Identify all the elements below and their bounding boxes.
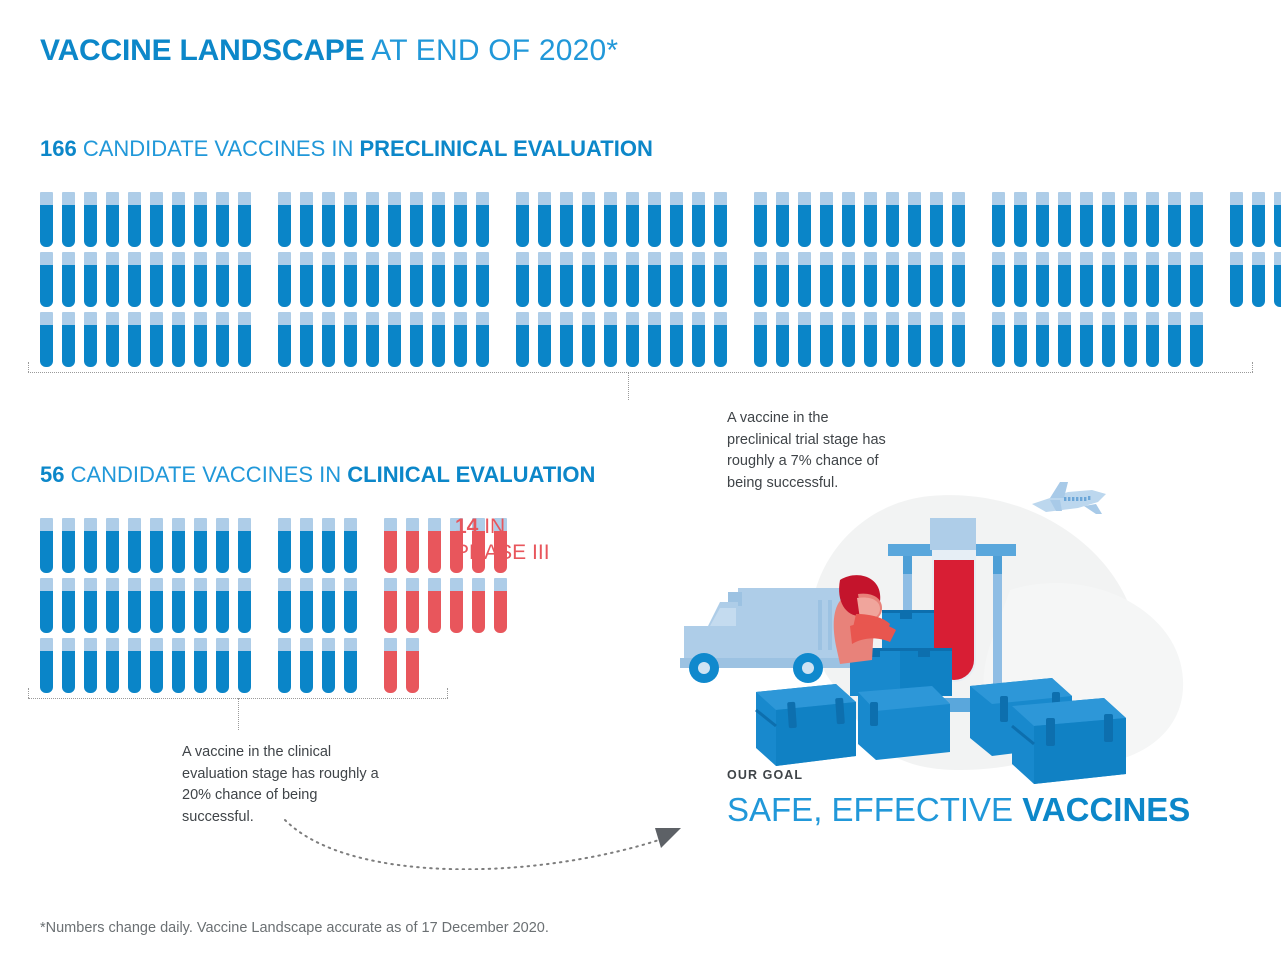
clinical-heading: 56 CANDIDATE VACCINES IN CLINICAL EVALUA… (40, 462, 595, 488)
vial-group (754, 312, 974, 367)
vial-blue (1102, 312, 1115, 367)
vial-blue (388, 312, 401, 367)
vial-body (238, 591, 251, 633)
flow-arrow (280, 810, 700, 870)
preclinical-count: 166 (40, 136, 77, 161)
vial-body (604, 325, 617, 367)
vial-body (516, 325, 529, 367)
vial-blue (1146, 192, 1159, 247)
vial-body (604, 265, 617, 307)
vial-blue (1014, 192, 1027, 247)
vial-blue (150, 518, 163, 573)
vial-body (322, 591, 335, 633)
vial-blue (278, 518, 291, 573)
vial-blue (62, 518, 75, 573)
vial-body (410, 265, 423, 307)
vial-blue (754, 312, 767, 367)
vial-body (648, 265, 661, 307)
vial-body (494, 591, 507, 633)
vial-blue (476, 252, 489, 307)
vial-blue (238, 518, 251, 573)
vial-body (1252, 205, 1265, 247)
vial-blue (172, 252, 185, 307)
vial-body (820, 205, 833, 247)
vial-body (930, 205, 943, 247)
vial-body (84, 265, 97, 307)
vial-blue (1274, 252, 1281, 307)
clinical-count: 56 (40, 462, 64, 487)
vial-blue (754, 192, 767, 247)
vial-body (1014, 325, 1027, 367)
vial-blue (538, 252, 551, 307)
vial-body (150, 265, 163, 307)
vial-body (714, 205, 727, 247)
vial-blue (410, 252, 423, 307)
vial-body (84, 205, 97, 247)
vial-body (560, 265, 573, 307)
vial-blue (344, 638, 357, 693)
vial-body (692, 325, 705, 367)
vial-red (406, 638, 419, 693)
vial-blue (842, 192, 855, 247)
vial-blue (278, 252, 291, 307)
vial-blue (476, 192, 489, 247)
vial-blue (172, 518, 185, 573)
vial-body (406, 651, 419, 693)
vial-body (322, 651, 335, 693)
vial-body (1146, 205, 1159, 247)
vial-blue (842, 312, 855, 367)
vial-group (40, 192, 260, 247)
vial-blue (1190, 252, 1203, 307)
vial-body (1036, 265, 1049, 307)
vial-blue (454, 192, 467, 247)
vial-body (538, 205, 551, 247)
vial-body (216, 591, 229, 633)
vial-blue (344, 312, 357, 367)
preclinical-heading: 166 CANDIDATE VACCINES IN PRECLINICAL EV… (40, 136, 653, 162)
vial-blue (1124, 192, 1137, 247)
vial-body (714, 265, 727, 307)
vial-body (1274, 205, 1281, 247)
vial-body (40, 531, 53, 573)
vial-blue (216, 312, 229, 367)
vial-blue (322, 578, 335, 633)
vial-blue (300, 578, 313, 633)
vial-blue (62, 252, 75, 307)
vial-body (300, 531, 313, 573)
vial-blue (864, 252, 877, 307)
vial-body (626, 325, 639, 367)
vial-blue (1014, 312, 1027, 367)
vial-blue (1168, 312, 1181, 367)
vial-body (40, 325, 53, 367)
vial-body (172, 265, 185, 307)
vial-body (670, 205, 683, 247)
vial-blue (84, 578, 97, 633)
vial-body (428, 531, 441, 573)
vial-blue (992, 312, 1005, 367)
vial-blue (432, 312, 445, 367)
vial-blue (582, 312, 595, 367)
vial-blue (40, 252, 53, 307)
vial-body (366, 325, 379, 367)
vial-body (344, 531, 357, 573)
vial-blue (714, 312, 727, 367)
vial-group (516, 312, 736, 367)
vial-blue (798, 312, 811, 367)
vial-blue (150, 578, 163, 633)
vial-body (278, 265, 291, 307)
vial-body (1146, 265, 1159, 307)
vial-body (428, 591, 441, 633)
footnote: *Numbers change daily. Vaccine Landscape… (40, 920, 549, 936)
vial-group (1230, 252, 1281, 307)
bracket-line (28, 372, 1253, 373)
vial-blue (322, 312, 335, 367)
vial-blue (216, 518, 229, 573)
vial-blue (40, 312, 53, 367)
vial-blue (300, 312, 313, 367)
vial-body (410, 205, 423, 247)
vial-body (1168, 205, 1181, 247)
vial-blue (366, 192, 379, 247)
vial-body (128, 205, 141, 247)
vial-blue (238, 252, 251, 307)
vial-group (992, 192, 1212, 247)
vial-blue (454, 312, 467, 367)
vial-body (62, 325, 75, 367)
vial-row (40, 518, 516, 573)
vial-blue (604, 252, 617, 307)
vial-body (776, 325, 789, 367)
vial-body (776, 205, 789, 247)
vial-blue (952, 192, 965, 247)
vial-body (692, 205, 705, 247)
vial-blue (648, 312, 661, 367)
bracket-drop-line (238, 698, 239, 730)
vial-blue (322, 518, 335, 573)
vial-red (406, 578, 419, 633)
vial-body (1058, 325, 1071, 367)
vial-body (106, 265, 119, 307)
vial-body (194, 325, 207, 367)
vial-blue (150, 638, 163, 693)
vial-red (450, 578, 463, 633)
vial-blue (1168, 252, 1181, 307)
vial-blue (714, 252, 727, 307)
vial-body (886, 205, 899, 247)
vial-blue (1168, 192, 1181, 247)
vial-blue (1124, 312, 1137, 367)
vial-body (216, 531, 229, 573)
vial-group (1230, 192, 1281, 247)
vial-body (1274, 265, 1281, 307)
vial-body (648, 325, 661, 367)
vial-group (40, 312, 260, 367)
vial-body (84, 591, 97, 633)
vial-blue (1080, 252, 1093, 307)
vial-blue (776, 252, 789, 307)
vial-body (908, 205, 921, 247)
shipping-case-right-front (1012, 698, 1126, 784)
vial-blue (278, 578, 291, 633)
vial-body (1080, 265, 1093, 307)
vial-body (648, 205, 661, 247)
vial-blue (516, 312, 529, 367)
vial-blue (62, 312, 75, 367)
vial-body (216, 325, 229, 367)
vial-blue (1102, 252, 1115, 307)
vial-body (604, 205, 617, 247)
shipping-case-middle (858, 686, 950, 760)
preclinical-heading-mid: CANDIDATE VACCINES IN (77, 136, 360, 161)
vial-body (366, 205, 379, 247)
phase-three-label-line2: PHASE III (455, 541, 550, 564)
vial-blue (648, 252, 661, 307)
vial-body (84, 325, 97, 367)
vial-blue (150, 312, 163, 367)
vial-body (128, 651, 141, 693)
vial-body (344, 651, 357, 693)
vial-red (384, 578, 397, 633)
vial-blue (128, 518, 141, 573)
vial-body (992, 265, 1005, 307)
phase-three-label-line1: IN (478, 515, 505, 538)
vial-body (344, 325, 357, 367)
vial-body (1190, 205, 1203, 247)
vial-blue (62, 192, 75, 247)
vial-body (172, 591, 185, 633)
vial-blue (476, 312, 489, 367)
vial-body (40, 205, 53, 247)
vial-body (454, 205, 467, 247)
vial-body (322, 205, 335, 247)
vial-blue (40, 518, 53, 573)
vial-blue (692, 252, 705, 307)
vial-body (62, 651, 75, 693)
vial-blue (106, 192, 119, 247)
goal-title-bold: VACCINES (1022, 791, 1190, 828)
vial-blue (62, 638, 75, 693)
vial-blue (344, 192, 357, 247)
vial-body (754, 265, 767, 307)
vial-blue (930, 192, 943, 247)
vial-body (1058, 205, 1071, 247)
vial-body (384, 591, 397, 633)
vial-blue (842, 252, 855, 307)
vial-body (798, 325, 811, 367)
infographic-canvas: VACCINE LANDSCAPE AT END OF 2020* 166 CA… (0, 0, 1281, 965)
vial-body (238, 265, 251, 307)
bracket-drop-line (628, 372, 629, 400)
vial-body (322, 325, 335, 367)
vial-body (454, 265, 467, 307)
vial-blue (172, 192, 185, 247)
vial-blue (1274, 192, 1281, 247)
vial-body (344, 265, 357, 307)
vial-body (582, 205, 595, 247)
vial-blue (40, 638, 53, 693)
vial-body (194, 265, 207, 307)
vial-blue (864, 312, 877, 367)
vial-body (754, 205, 767, 247)
vial-blue (930, 312, 943, 367)
shipping-case-left (756, 684, 856, 766)
vial-blue (278, 192, 291, 247)
vial-body (216, 265, 229, 307)
vial-blue (560, 312, 573, 367)
vial-blue (560, 252, 573, 307)
vial-body (322, 531, 335, 573)
vial-blue (992, 192, 1005, 247)
vial-body (300, 591, 313, 633)
vial-blue (908, 192, 921, 247)
vial-body (864, 325, 877, 367)
vial-blue (626, 192, 639, 247)
vial-body (238, 205, 251, 247)
vial-body (908, 325, 921, 367)
vial-blue (952, 312, 965, 367)
vial-blue (538, 312, 551, 367)
vial-blue (582, 252, 595, 307)
vial-body (388, 205, 401, 247)
preclinical-heading-strong: PRECLINICAL EVALUATION (360, 136, 653, 161)
vial-group (992, 312, 1212, 367)
clinical-vial-grid (40, 518, 516, 693)
vial-blue (238, 578, 251, 633)
vial-blue (84, 312, 97, 367)
page-title-rest: AT END OF 2020* (364, 34, 618, 67)
vial-blue (454, 252, 467, 307)
vial-group (40, 252, 260, 307)
vial-body (278, 325, 291, 367)
vial-body (172, 531, 185, 573)
vial-body (172, 205, 185, 247)
vial-blue (776, 192, 789, 247)
vial-body (300, 325, 313, 367)
vial-body (172, 325, 185, 367)
vial-body (150, 531, 163, 573)
vial-body (238, 531, 251, 573)
vial-blue (754, 252, 767, 307)
vial-blue (106, 252, 119, 307)
vial-body (194, 531, 207, 573)
vial-red (406, 518, 419, 573)
vial-blue (1146, 252, 1159, 307)
vial-blue (410, 192, 423, 247)
vial-body (754, 325, 767, 367)
vial-body (626, 205, 639, 247)
vial-blue (322, 638, 335, 693)
vial-body (238, 651, 251, 693)
vial-blue (106, 312, 119, 367)
vial-body (798, 205, 811, 247)
vial-body (322, 265, 335, 307)
vial-group (278, 518, 366, 573)
vial-body (1080, 205, 1093, 247)
vial-blue (930, 252, 943, 307)
vial-body (472, 591, 485, 633)
vial-blue (604, 192, 617, 247)
vial-blue (84, 252, 97, 307)
vial-blue (128, 578, 141, 633)
vial-blue (84, 518, 97, 573)
vial-blue (1058, 312, 1071, 367)
vial-blue (538, 192, 551, 247)
vial-blue (1146, 312, 1159, 367)
vial-blue (128, 252, 141, 307)
vial-group (384, 638, 428, 693)
vial-blue (300, 518, 313, 573)
preclinical-vial-grid (40, 192, 1281, 367)
vial-body (40, 265, 53, 307)
vial-group (278, 578, 366, 633)
vial-blue (40, 578, 53, 633)
vial-blue (366, 252, 379, 307)
vial-body (538, 265, 551, 307)
vaccine-logistics-illustration (660, 470, 1220, 800)
vial-red (472, 578, 485, 633)
bracket-tick-right (447, 688, 448, 698)
vial-body (798, 265, 811, 307)
vial-blue (1036, 252, 1049, 307)
vial-body (106, 651, 119, 693)
vial-body (106, 531, 119, 573)
vial-body (62, 531, 75, 573)
vial-body (238, 325, 251, 367)
vial-body (992, 325, 1005, 367)
vial-blue (194, 638, 207, 693)
vial-body (670, 265, 683, 307)
vial-blue (344, 518, 357, 573)
vial-body (40, 651, 53, 693)
vial-body (952, 265, 965, 307)
vial-blue (344, 578, 357, 633)
vial-body (194, 651, 207, 693)
vial-blue (952, 252, 965, 307)
vial-blue (106, 518, 119, 573)
vial-body (842, 325, 855, 367)
vial-body (1124, 325, 1137, 367)
vial-blue (1124, 252, 1137, 307)
vial-body (476, 265, 489, 307)
vial-blue (432, 252, 445, 307)
vial-blue (194, 578, 207, 633)
vial-body (1058, 265, 1071, 307)
vial-blue (128, 312, 141, 367)
vial-body (714, 325, 727, 367)
vial-blue (410, 312, 423, 367)
vial-body (432, 325, 445, 367)
vial-blue (344, 252, 357, 307)
vial-body (476, 205, 489, 247)
vial-group (278, 638, 366, 693)
vial-blue (670, 312, 683, 367)
vial-blue (1080, 312, 1093, 367)
vial-body (1102, 265, 1115, 307)
vial-body (450, 591, 463, 633)
vial-group (40, 578, 260, 633)
vial-body (406, 591, 419, 633)
vial-body (1014, 205, 1027, 247)
vial-blue (300, 192, 313, 247)
vial-blue (1190, 192, 1203, 247)
vial-body (278, 651, 291, 693)
vial-blue (992, 252, 1005, 307)
vial-body (84, 651, 97, 693)
vial-blue (1080, 192, 1093, 247)
